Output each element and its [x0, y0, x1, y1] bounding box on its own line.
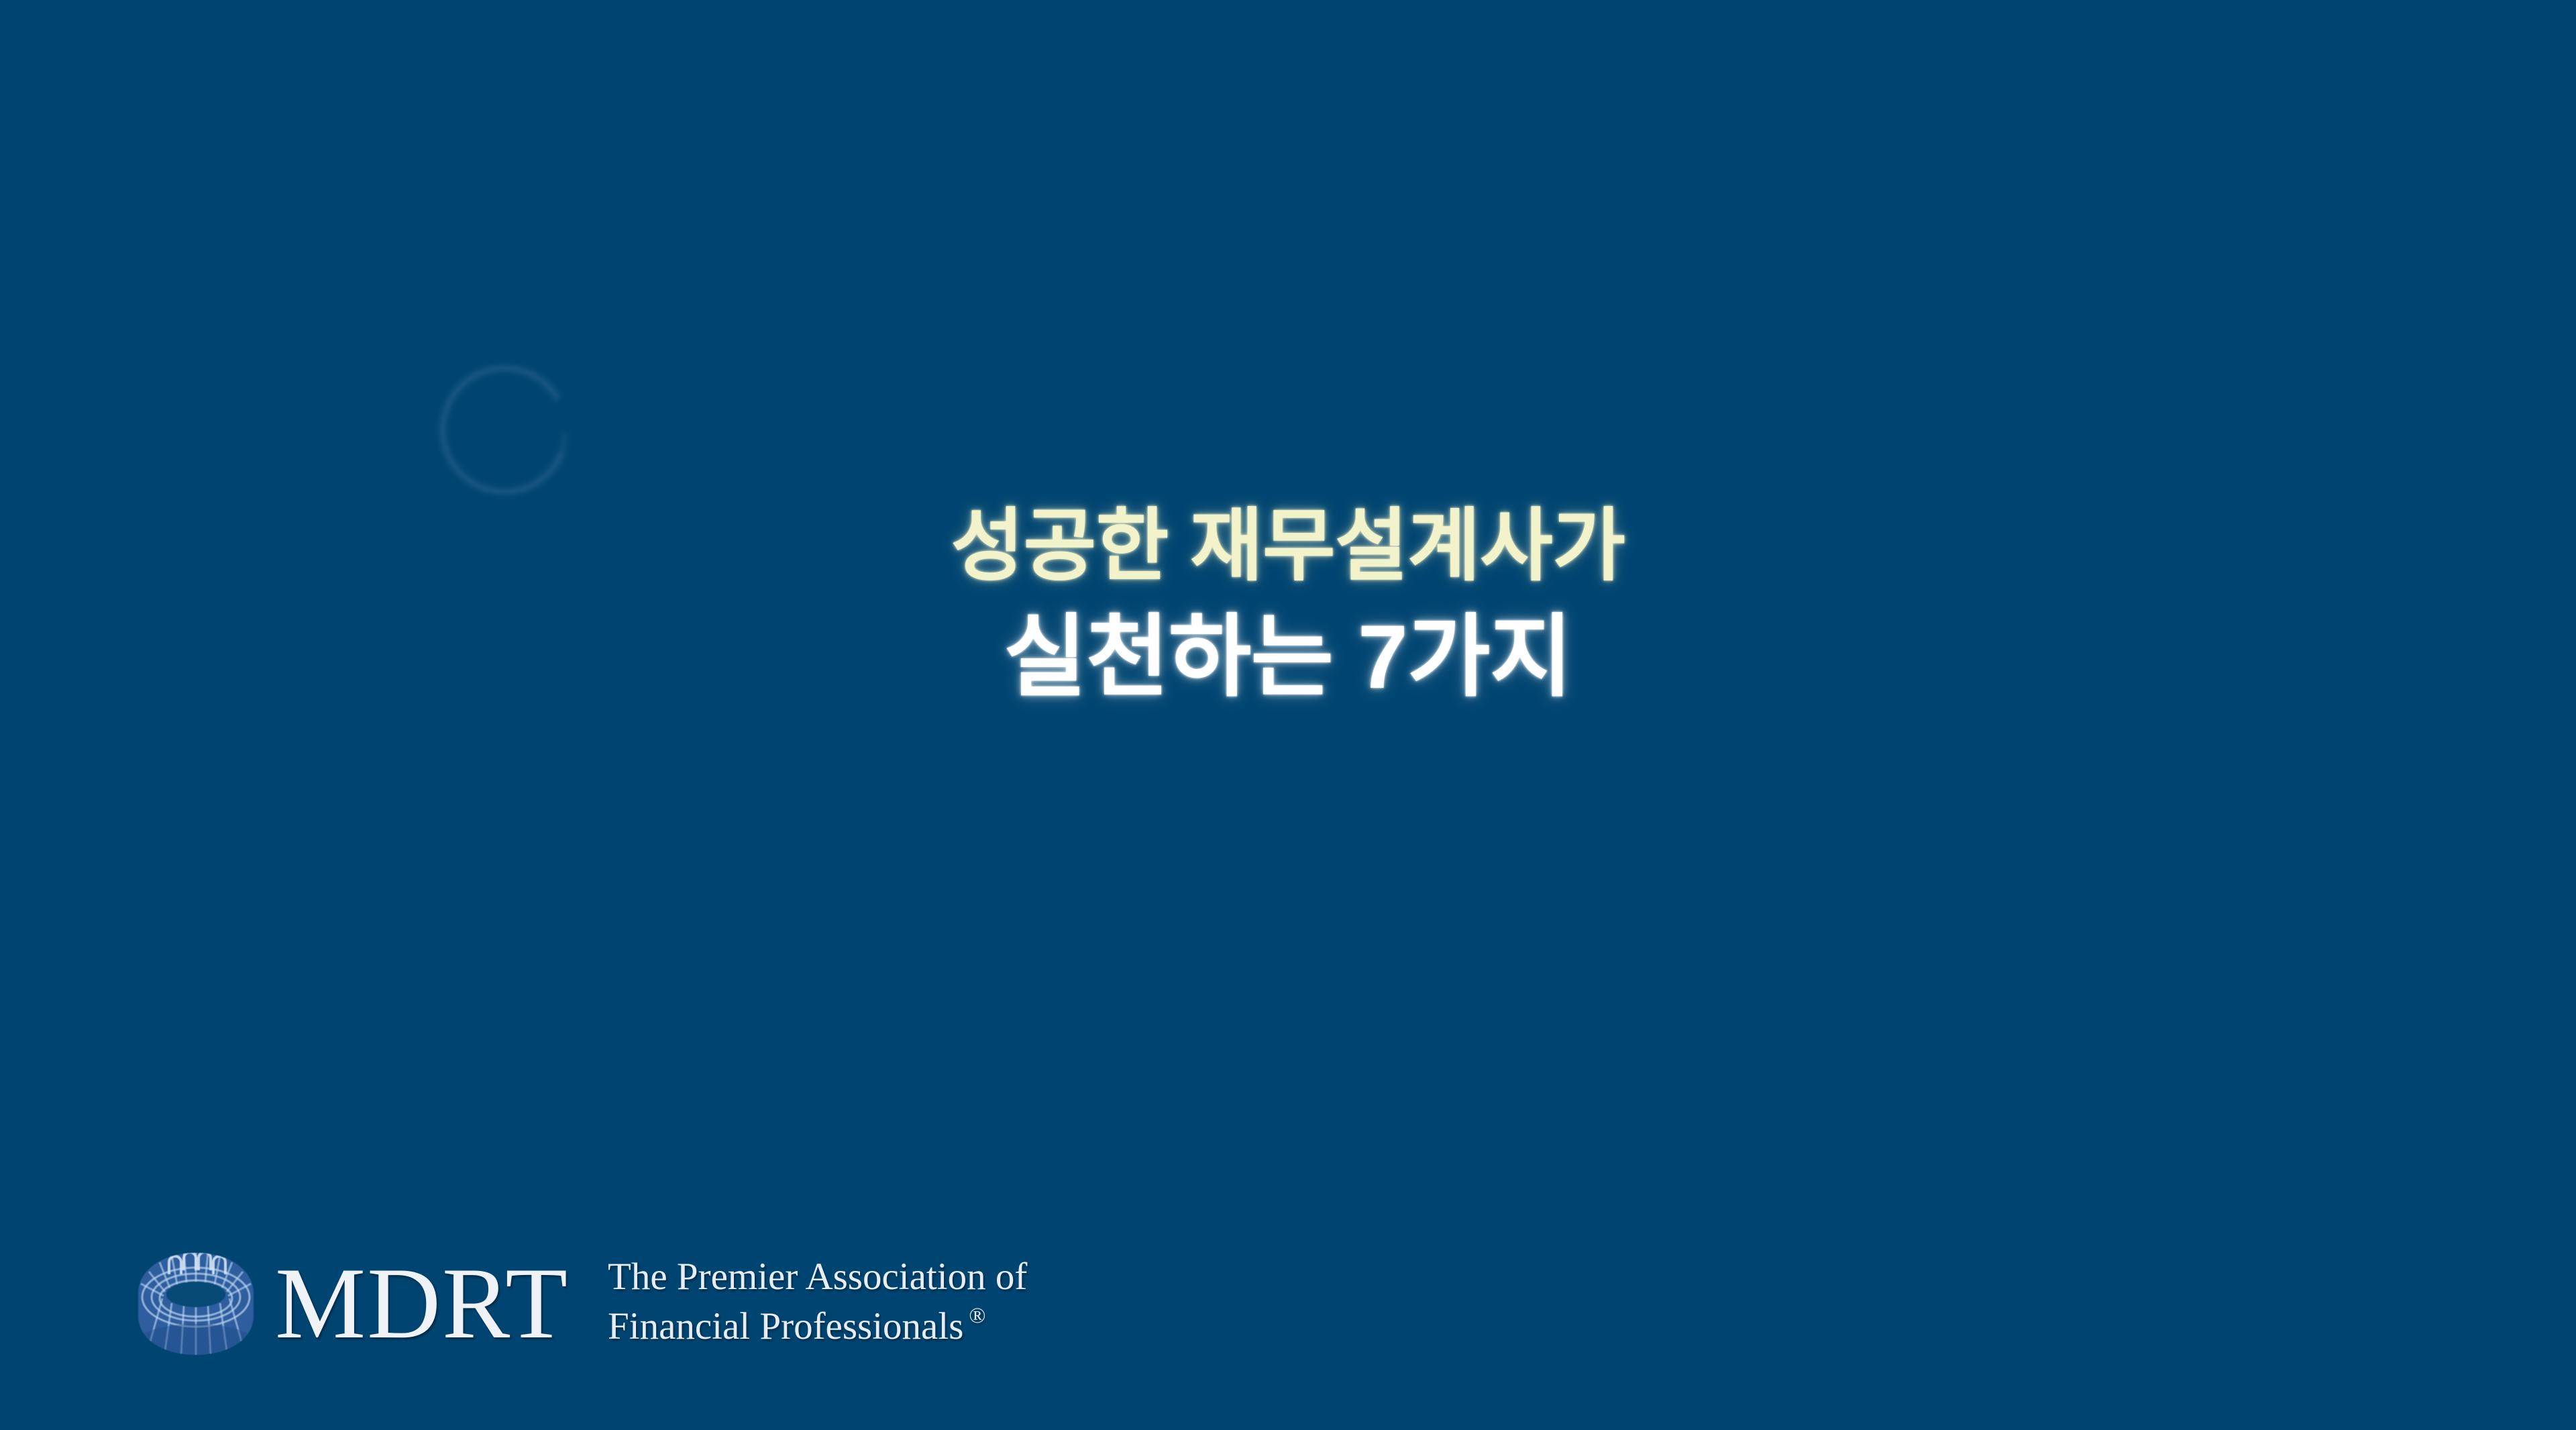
mdrt-tagline-line-1: The Premier Association of	[608, 1252, 1027, 1302]
mdrt-round-table-icon	[131, 1241, 260, 1360]
mdrt-wordmark: MDRT	[275, 1252, 569, 1354]
mdrt-logo-lockup: MDRT The Premier Association of Financia…	[131, 1237, 1027, 1364]
slide-title-line-2: 실천하는 7가지	[0, 613, 2576, 703]
mdrt-tagline-line-2-row: Financial Professionals®	[608, 1302, 1027, 1351]
mdrt-tagline-line-2: Financial Professionals	[608, 1305, 963, 1347]
loading-spinner-icon	[429, 356, 581, 507]
presentation-slide: 성공한 재무설계사가 실천하는 7가지	[0, 0, 2576, 1430]
spinner-arc-main	[443, 368, 561, 492]
mdrt-tagline: The Premier Association of Financial Pro…	[608, 1252, 1027, 1351]
table-center-opening	[166, 1282, 225, 1307]
registered-trademark-icon: ®	[969, 1304, 985, 1328]
spinner-arc-tail	[561, 435, 565, 455]
slide-title-block: 성공한 재무설계사가 실천하는 7가지	[0, 507, 2576, 703]
slide-title-line-1: 성공한 재무설계사가	[0, 507, 2576, 586]
